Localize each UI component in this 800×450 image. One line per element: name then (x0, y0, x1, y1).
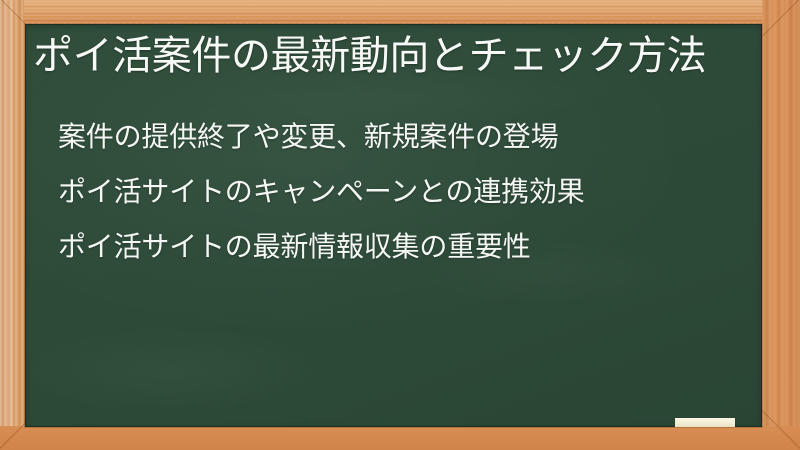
frame-rail-bottom-tray (0, 426, 800, 450)
frame-rail-right (762, 0, 800, 450)
chalk-stick-icon (675, 418, 735, 427)
slide-title: ポイ活案件の最新動向とチェック方法 (33, 33, 706, 80)
list-item: 案件の提供終了や変更、新規案件の登場 (58, 109, 738, 164)
bullet-list: 案件の提供終了や変更、新規案件の登場 ポイ活サイトのキャンペーンとの連携効果 ポ… (58, 109, 738, 274)
frame-rail-left (0, 0, 24, 450)
chalkboard-content: ポイ活案件の最新動向とチェック方法 案件の提供終了や変更、新規案件の登場 ポイ活… (25, 24, 762, 427)
frame-rail-top (0, 0, 800, 23)
list-item: ポイ活サイトの最新情報収集の重要性 (58, 219, 738, 274)
chalkboard-surface: ポイ活案件の最新動向とチェック方法 案件の提供終了や変更、新規案件の登場 ポイ活… (25, 24, 762, 427)
chalkboard-slide: ポイ活案件の最新動向とチェック方法 案件の提供終了や変更、新規案件の登場 ポイ活… (0, 0, 800, 450)
list-item: ポイ活サイトのキャンペーンとの連携効果 (58, 164, 738, 219)
